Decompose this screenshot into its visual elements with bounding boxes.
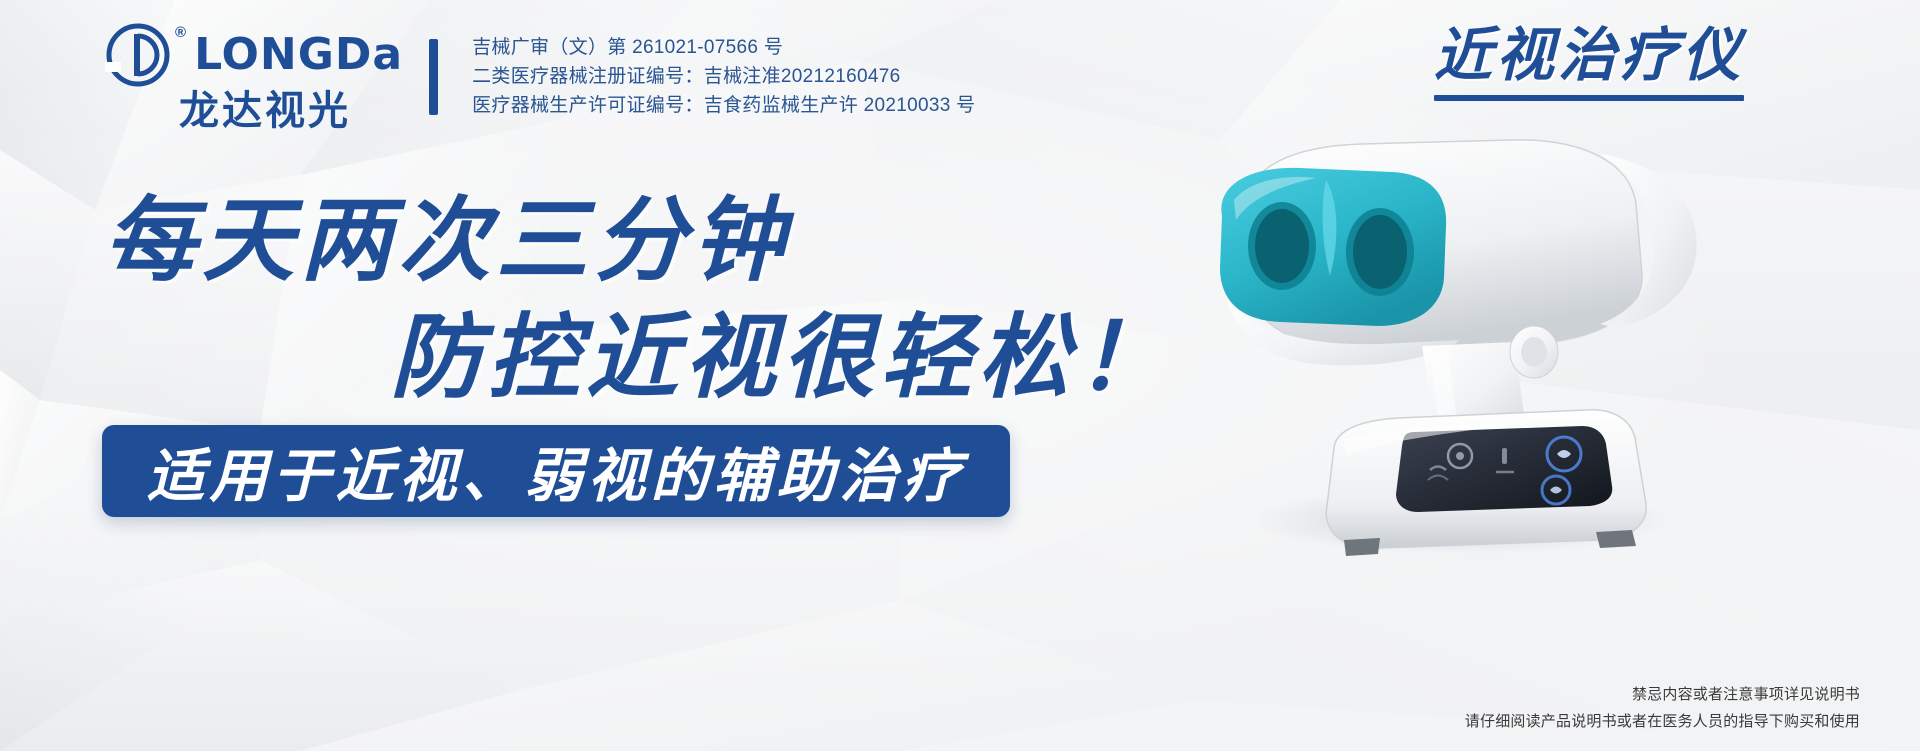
product-title-block: 近视治疗仪	[1434, 26, 1744, 101]
licence-info: 吉械广审（文）第 261021-07566 号 二类医疗器械注册证编号：吉械注准…	[472, 36, 975, 117]
brand-header: ® LONGDa 龙达视光 吉械广审（文）第 261021-07566 号 二类…	[105, 22, 976, 132]
headline-line-2: 防控近视很轻松！	[390, 283, 1174, 416]
licence-line-ad-approval: 吉械广审（文）第 261021-07566 号	[472, 36, 975, 60]
product-title-underline	[1434, 95, 1744, 101]
disclaimer-line-2: 请仔细阅读产品说明书或者在医务人员的指导下购买和使用	[1465, 711, 1860, 734]
disclaimer-line-1: 禁忌内容或者注意事项详见说明书	[1465, 684, 1860, 707]
product-title: 近视治疗仪	[1434, 26, 1744, 87]
headline-line-1: 每天两次三分钟	[104, 166, 790, 299]
advertising-banner: ® LONGDa 龙达视光 吉械广审（文）第 261021-07566 号 二类…	[0, 0, 1920, 751]
myopia-treatment-device-image	[1130, 88, 1770, 558]
indication-banner: 适用于近视、弱视的辅助治疗	[102, 425, 1010, 517]
registered-trademark-icon: ®	[175, 24, 186, 41]
brand-name-en: LONGDa	[194, 34, 403, 76]
licence-line-registration: 二类医疗器械注册证编号：吉械注准20212160476	[472, 65, 975, 89]
indication-text: 适用于近视、弱视的辅助治疗	[146, 429, 965, 513]
header-divider	[429, 39, 438, 115]
disclaimer-block: 禁忌内容或者注意事项详见说明书 请仔细阅读产品说明书或者在医务人员的指导下购买和…	[1465, 684, 1860, 733]
licence-line-production: 医疗器械生产许可证编号：吉食药监械生产许 20210033 号	[472, 94, 975, 118]
brand-name-cn: 龙达视光	[179, 90, 351, 132]
logo-top-row: ® LONGDa	[105, 22, 403, 88]
logo-block: ® LONGDa 龙达视光	[105, 22, 403, 132]
longda-circle-eye-logo-icon	[105, 22, 171, 88]
